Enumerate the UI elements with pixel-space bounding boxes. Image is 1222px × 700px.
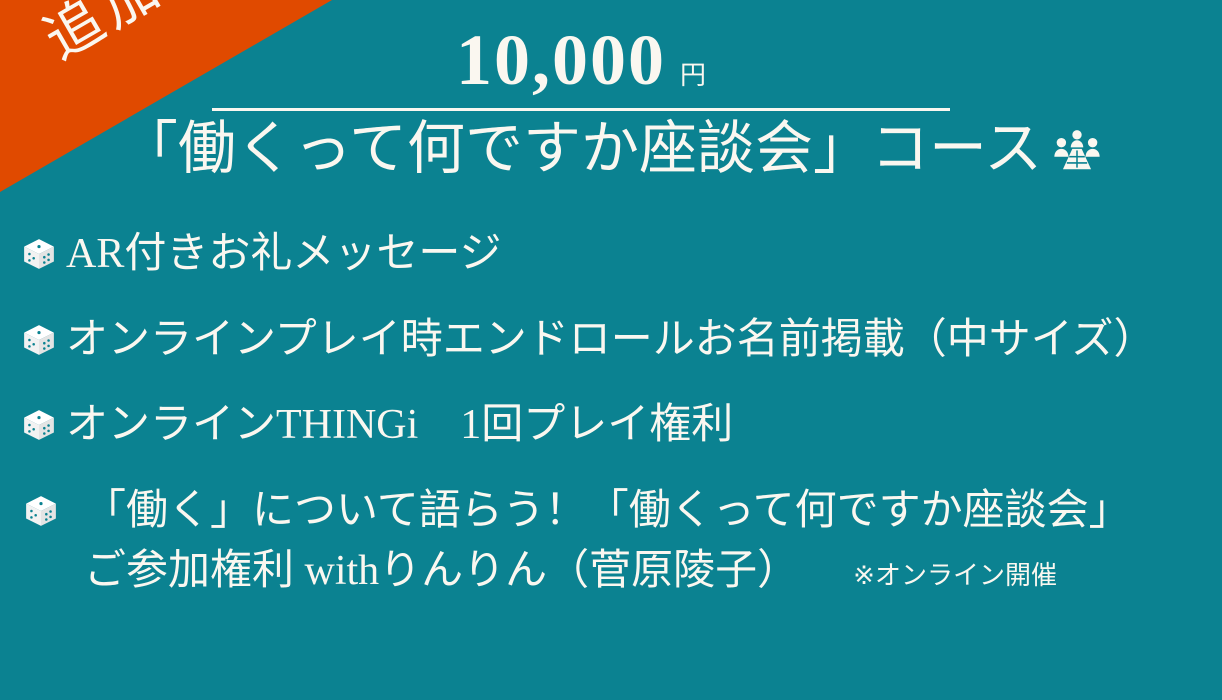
- benefits-list: AR付きお礼メッセージ: [0, 225, 1222, 601]
- price-currency-unit: 円: [680, 62, 706, 88]
- benefit-text-line-2-main: ご参加権利 withりんりん（菅原陵子）: [84, 548, 799, 594]
- game-die-icon: [22, 237, 56, 271]
- benefit-text: オンラインTHINGi 1回プレイ権利: [66, 396, 733, 456]
- price-amount: 10,000: [456, 24, 666, 96]
- benefit-text: オンラインプレイ時エンドロールお名前掲載（中サイズ）: [66, 311, 1155, 371]
- pledge-course-card: 追加！ 10,000 円 「働くって何ですか座談会」コース: [0, 0, 1222, 700]
- list-item: AR付きお礼メッセージ: [0, 225, 1222, 285]
- benefit-text: AR付きお礼メッセージ: [66, 225, 502, 285]
- benefit-text-block: 「働く」について語らう！「働くって何ですか座談会」 ご参加権利 withりんりん…: [84, 482, 1131, 601]
- list-item: オンラインプレイ時エンドロールお名前掲載（中サイズ）: [0, 311, 1222, 371]
- corner-ribbon: 追加！: [0, 0, 332, 192]
- list-item: 「働く」について語らう！「働くって何ですか座談会」 ご参加権利 withりんりん…: [0, 482, 1222, 601]
- benefit-text-line-2: ご参加権利 withりんりん（菅原陵子）※オンライン開催: [84, 542, 1131, 602]
- benefit-text-line-1: 「働く」について語らう！「働くって何ですか座談会」: [84, 482, 1131, 542]
- online-note: ※オンライン開催: [853, 561, 1057, 590]
- game-die-icon: [22, 323, 56, 357]
- game-die-icon: [22, 408, 56, 442]
- meeting-people-icon: [1052, 127, 1102, 177]
- game-die-icon: [24, 494, 58, 528]
- list-item: オンラインTHINGi 1回プレイ権利: [0, 396, 1222, 456]
